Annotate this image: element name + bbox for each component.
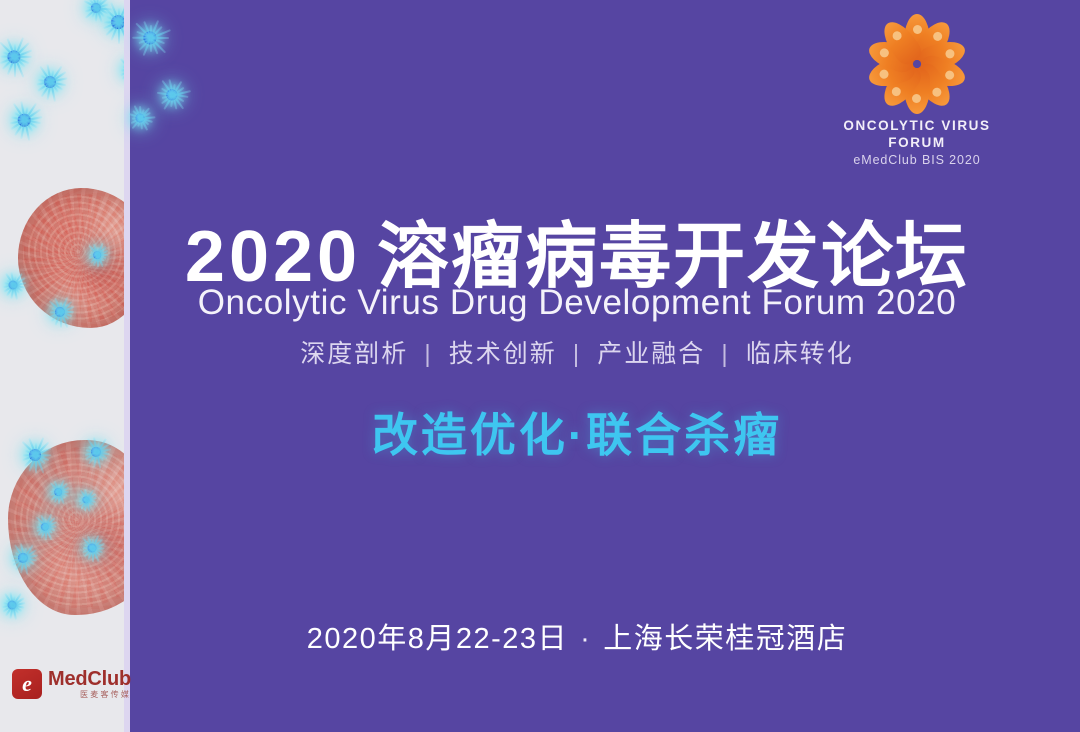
event-poster: ONCOLYTIC VIRUS FORUM eMedClub BIS 2020 … xyxy=(0,0,1080,732)
event-venue: 上海长荣桂冠酒店 xyxy=(603,623,847,655)
virus-particle-icon xyxy=(15,435,55,475)
virus-particle-icon xyxy=(6,541,40,575)
virus-particle-icon xyxy=(45,479,71,505)
emedclub-logo: e MedClub 医麦客传媒 xyxy=(12,669,131,699)
topic-list: 深度剖析|技术创新|产业融合|临床转化 xyxy=(130,334,1024,370)
virus-particle-icon xyxy=(74,488,98,512)
page-title-english: Oncolytic Virus Drug Development Forum 2… xyxy=(130,283,1024,323)
tagline: 改造优化·联合杀瘤 xyxy=(130,399,1024,465)
left-imagery-panel xyxy=(0,0,124,732)
virus-particle-icon xyxy=(79,435,113,469)
virus-particle-icon xyxy=(3,99,45,141)
virus-particle-icon xyxy=(43,295,77,329)
virus-particle-icon xyxy=(77,533,107,563)
topic-item: 技术创新 xyxy=(449,340,557,368)
topic-item: 临床转化 xyxy=(746,340,854,368)
virus-particle-icon xyxy=(128,16,172,60)
topic-item: 产业融合 xyxy=(597,340,705,368)
topic-separator: | xyxy=(573,340,582,368)
emedclub-wordmark: MedClub 医麦客传媒 xyxy=(48,669,131,699)
virus-particle-icon xyxy=(84,242,110,268)
topic-separator: | xyxy=(424,340,433,368)
emedclub-badge-icon: e xyxy=(12,669,42,699)
virus-particle-icon xyxy=(114,53,124,87)
virus-particle-icon xyxy=(125,103,155,133)
virus-particle-icon xyxy=(31,513,59,541)
event-separator: · xyxy=(580,623,591,655)
poster-content: 2020溶瘤病毒开发论坛 Oncolytic Virus Drug Develo… xyxy=(130,0,1080,732)
topic-separator: | xyxy=(721,340,730,368)
emedclub-name-cn: 医麦客传媒 xyxy=(48,691,131,699)
event-date-venue: 2020年8月22-23日·上海长荣桂冠酒店 xyxy=(130,615,1024,657)
topic-item: 深度剖析 xyxy=(300,340,408,368)
event-date: 2020年8月22-23日 xyxy=(307,623,568,655)
virus-particle-icon xyxy=(79,0,113,25)
virus-particle-icon xyxy=(0,270,28,300)
virus-particle-icon xyxy=(30,62,70,102)
emedclub-name: MedClub xyxy=(48,669,131,689)
virus-particle-icon xyxy=(0,590,27,620)
virus-particle-icon xyxy=(153,76,191,114)
